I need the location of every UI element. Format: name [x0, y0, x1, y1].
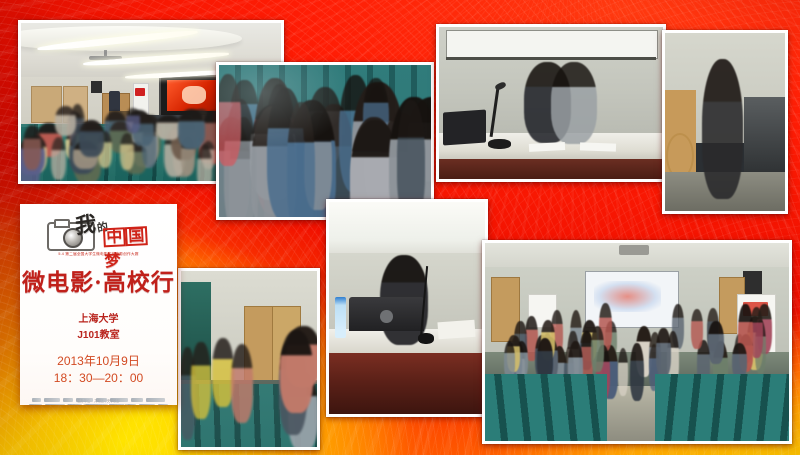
event-date: 2013年10月9日	[20, 353, 177, 369]
logo-chinese-dream: 中国梦	[102, 226, 157, 272]
logo-char-guo: 国	[124, 226, 147, 246]
lighting-haze	[219, 65, 431, 217]
standing-student-scene	[181, 271, 317, 447]
panel-scene	[439, 27, 663, 179]
water-bottle	[335, 297, 346, 337]
student-figures	[181, 271, 317, 447]
laptop	[443, 109, 486, 145]
laptop-logo-icon	[380, 310, 392, 323]
poster-venue: 上海大学 J101教室	[20, 312, 177, 343]
microphone-base	[418, 333, 434, 344]
papers-right	[580, 142, 616, 151]
event-poster[interactable]: 我 的 中国梦 5.4 第二届全国大学生微电影和微电影创作大赛 微电影·高校行 …	[20, 204, 177, 405]
logo-char-zhong: 中	[102, 227, 125, 247]
photo-presenter-laptop[interactable]	[326, 199, 488, 417]
speaker-figure	[665, 33, 785, 211]
photo-group-shot[interactable]	[482, 240, 792, 444]
collage-canvas: 我 的 中国梦 5.4 第二届全国大学生微电影和微电影创作大赛 微电影·高校行 …	[0, 0, 800, 455]
photo-woman-microphone[interactable]	[662, 30, 788, 214]
microphone-base	[488, 139, 510, 148]
sponsor-logo-row	[26, 398, 171, 405]
group-photo-scene	[485, 243, 789, 441]
microphone-speaker-scene	[665, 33, 785, 211]
audience-closeup-scene	[219, 65, 431, 217]
venue-school: 上海大学	[20, 312, 177, 328]
photo-panel-speakers[interactable]	[436, 24, 666, 182]
panel-people	[439, 27, 663, 179]
poster-logo: 我 的 中国梦	[41, 211, 157, 251]
presenter-scene	[329, 202, 485, 414]
papers	[438, 319, 477, 339]
poster-subtitle: 5.4 第二届全国大学生微电影和微电影创作大赛	[26, 252, 170, 256]
venue-room: J101教室	[20, 328, 177, 344]
poster-datetime: 2013年10月9日 18：30—20：00	[20, 353, 177, 385]
papers-left	[528, 142, 564, 151]
seats-right-block	[655, 374, 789, 441]
event-time: 18：30—20：00	[20, 370, 177, 386]
poster-body: 我 的 中国梦 5.4 第二届全国大学生微电影和微电影创作大赛 微电影·高校行 …	[20, 211, 177, 405]
photo-audience-closeup[interactable]	[216, 62, 434, 220]
seats-left-block	[485, 374, 607, 441]
logo-char-wo: 我	[74, 207, 96, 240]
photo-student-standing[interactable]	[178, 268, 320, 450]
